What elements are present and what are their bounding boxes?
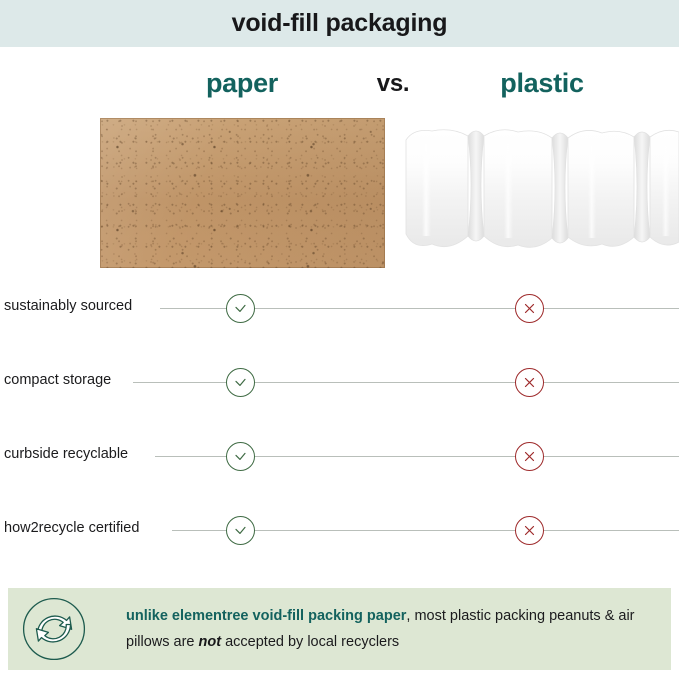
recycle-icon (22, 597, 86, 661)
plastic-air-pillows-image (400, 118, 679, 270)
row-label: compact storage (4, 372, 111, 388)
footer-message: unlike elementree void-fill packing pape… (126, 603, 656, 655)
page-title: void-fill packaging (232, 9, 448, 38)
table-row: sustainably sourced (0, 287, 679, 331)
table-row: curbside recyclable (0, 435, 679, 479)
comparison-rows: sustainably sourced compact storage curb… (0, 272, 679, 572)
product-image-row (0, 118, 679, 270)
footer-tail-text: accepted by local recyclers (221, 634, 399, 650)
paper-check-icon (226, 442, 255, 471)
column-header-plastic: plastic (500, 68, 583, 99)
kraft-paper-image (100, 118, 385, 268)
footer-banner: unlike elementree void-fill packing pape… (8, 588, 671, 670)
plastic-cross-icon (515, 368, 544, 397)
column-separator-vs: vs. (377, 70, 409, 98)
row-label: how2recycle certified (4, 520, 139, 536)
paper-check-icon (226, 294, 255, 323)
plastic-cross-icon (515, 516, 544, 545)
row-label: curbside recyclable (4, 446, 128, 462)
footer-emphasis-text: not (199, 634, 222, 650)
title-band: void-fill packaging (0, 0, 679, 47)
column-headers: paper vs. plastic (0, 68, 679, 106)
paper-check-icon (226, 368, 255, 397)
plastic-cross-icon (515, 294, 544, 323)
column-header-paper: paper (206, 68, 278, 99)
table-row: compact storage (0, 361, 679, 405)
footer-lead-text: unlike elementree void-fill packing pape… (126, 608, 406, 624)
table-row: how2recycle certified (0, 509, 679, 553)
plastic-cross-icon (515, 442, 544, 471)
row-label: sustainably sourced (4, 298, 132, 314)
paper-check-icon (226, 516, 255, 545)
